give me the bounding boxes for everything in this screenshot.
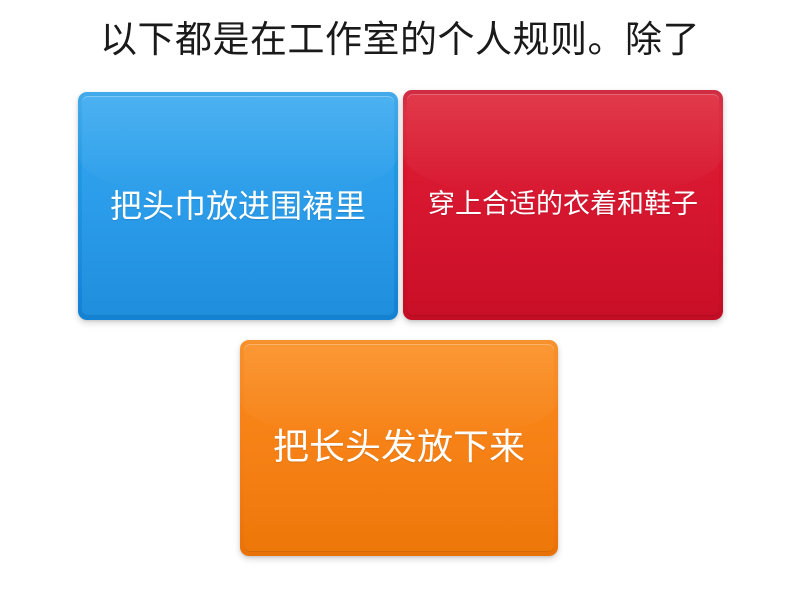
answer-option-orange-label: 把长头发放下来 — [263, 427, 535, 468]
quiz-screen: 以下都是在工作室的个人规则。除了 把头巾放进围裙里 穿上合适的衣着和鞋子 把长头… — [0, 0, 800, 600]
answer-option-red-label: 穿上合适的衣着和鞋子 — [418, 189, 708, 220]
answer-option-orange[interactable]: 把长头发放下来 — [240, 340, 558, 556]
answer-option-blue[interactable]: 把头巾放进围裙里 — [78, 92, 398, 320]
page-title: 以下都是在工作室的个人规则。除了 — [0, 16, 800, 64]
answer-option-red[interactable]: 穿上合适的衣着和鞋子 — [403, 90, 723, 320]
answer-option-blue-label: 把头巾放进围裙里 — [100, 188, 376, 225]
